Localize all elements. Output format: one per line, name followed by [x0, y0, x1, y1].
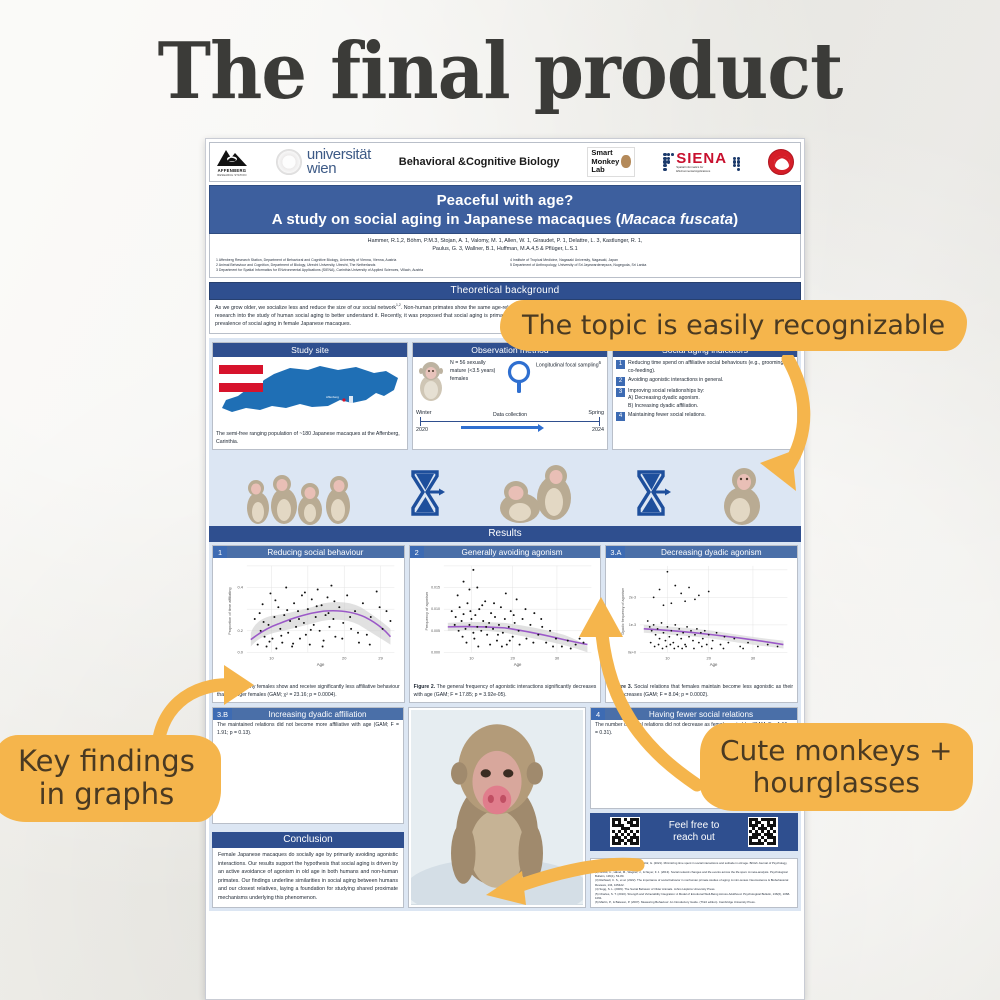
result-card-3a-number: 3.A — [606, 546, 625, 558]
result-card-3b-number: 3.B — [213, 708, 232, 720]
reference-item: (3) Rathwell, C. S., et al. (2022). The … — [595, 878, 793, 887]
svg-text:0.2: 0.2 — [237, 628, 242, 633]
reference-item: (2) Wrzus, C., Hänel, M., Wagner, J., & … — [595, 870, 793, 879]
author-line-2: Paulus, G. 3, Wallner, B.1, Huffman, M.A… — [220, 245, 790, 253]
result-card-3b: 3.B Increasing dyadic affiliation The ma… — [212, 707, 404, 824]
affiliations: 1 Affenberg Research Station, Department… — [209, 256, 801, 278]
poster-title-block: Peaceful with age? A study on social agi… — [209, 185, 801, 234]
annotation-key-findings: Key findings in graphs — [0, 735, 221, 822]
affiliation-5: 5 Department of Anthropology, University… — [510, 263, 794, 268]
reference-item: (5) Charles, S. T. (2010). Strength and … — [595, 892, 793, 901]
conclusion-heading: Conclusion — [212, 832, 404, 848]
figure-1-scatter-svg: 0.0 0.2 0.4 10 20 29 Age Proportion of t… — [215, 560, 402, 678]
timeline-year-start: 2020 — [416, 427, 428, 433]
result-card-1: 1 Reducing social behaviour 0.0 — [212, 545, 405, 703]
siena-logo: SIENA Spatial Informatics for ENvironmen… — [663, 151, 740, 172]
svg-text:Age: Age — [710, 662, 718, 667]
indicator-number: 4 — [616, 412, 625, 421]
observation-method-card: Observation method N = 56 sexually matur… — [412, 342, 608, 450]
universitat-wien-logo: universität wien — [276, 148, 371, 177]
macaque-solitary-illustration-icon — [716, 464, 770, 526]
univie-seal-icon — [276, 149, 302, 175]
indicator-item: 1 Reducing time spend on affiliative soc… — [616, 360, 794, 376]
svg-text:0.010: 0.010 — [431, 607, 440, 611]
indicator-item: 3 Improving social relationships by: A) … — [616, 388, 794, 411]
svg-text:0.005: 0.005 — [431, 629, 440, 633]
qr-code-left[interactable] — [610, 817, 640, 847]
result-card-4-title: Having fewer social relations — [605, 708, 797, 720]
result-card-2-number: 2 — [410, 546, 424, 558]
indicator-item: 2 Avoiding agonistic interactions in gen… — [616, 377, 794, 386]
svg-text:10: 10 — [269, 655, 274, 660]
indicator-text: Avoiding agonistic interactions in gener… — [628, 377, 794, 385]
data-collection-timeline: Winter Spring Data collection 2020 2024 — [416, 410, 604, 436]
svg-text:30: 30 — [554, 655, 559, 660]
qr-code-right-linkedin[interactable] — [748, 817, 778, 847]
svg-text:0e+0: 0e+0 — [628, 650, 636, 654]
svg-text:Proportion of time affiliating: Proportion of time affiliating — [227, 587, 232, 634]
result-card-1-title: Reducing social behaviour — [227, 546, 404, 558]
monkey-face-logo — [768, 149, 794, 175]
result-card-2-title: Generally avoiding agonism — [424, 546, 601, 558]
svg-text:0.4: 0.4 — [237, 585, 243, 590]
svg-text:0.000: 0.000 — [431, 650, 440, 654]
hourglass-arrow-icon-2 — [631, 468, 671, 518]
mountain-icon — [216, 147, 248, 167]
svg-text:30: 30 — [751, 655, 756, 660]
macaque-group-illustration-icon — [240, 468, 360, 526]
author-line-1: Hammer, R.1,2, Böhm, P.M.3, Stojan, A. 1… — [220, 237, 790, 245]
annotation-cute-monkeys: Cute monkeys + hourglasses — [700, 723, 973, 811]
data-collection-label: Data collection — [416, 412, 604, 418]
annotation-cute-monkeys-text: Cute monkeys + hourglasses — [700, 723, 973, 811]
reach-out-text: Feel free to reach out — [669, 820, 720, 843]
figure-3-caption: Figure 3. Social relations that females … — [606, 682, 797, 702]
result-card-3b-text: The maintained relations did not become … — [213, 720, 403, 740]
indicator-number: 3 — [616, 388, 625, 397]
results-heading: Results — [209, 526, 801, 542]
figure-1-caption: Figure 1. Elderly females show and recei… — [213, 682, 404, 702]
reference-item: (1) Luo, Y.Y., Pauly, T., Röcke, C., & H… — [595, 861, 793, 870]
reach-out-line2: reach out — [669, 832, 720, 844]
annotation-topic-text: The topic is easily recognizable — [500, 300, 967, 351]
univie-line2: wien — [307, 162, 371, 176]
indicator-text: Improving social relationships by: A) De… — [628, 388, 794, 411]
svg-text:0.0: 0.0 — [237, 649, 243, 654]
logo-bar: AFFENBERG RESEARCH STATION universität w… — [209, 142, 801, 182]
methods-row: Study site Affenberg The semi-free rangi… — [209, 338, 801, 452]
slide-title: The final product — [40, 26, 960, 117]
svg-text:10: 10 — [469, 655, 474, 660]
monkey-hourglass-strip — [209, 452, 801, 526]
figure-1-chart: 0.0 0.2 0.4 10 20 29 Age Proportion of t… — [213, 558, 404, 682]
reference-item: (6) Martin, P., & Bateson, P. (2007). Me… — [595, 900, 793, 904]
magnifier-icon — [506, 360, 532, 394]
svg-text:20: 20 — [510, 655, 515, 660]
study-site-caption: The semi-free ranging population of ~180… — [216, 431, 404, 446]
poster-title-line2: A study on social aging in Japanese maca… — [218, 211, 792, 228]
timeline-arrow-icon — [461, 426, 539, 429]
poster-title-line1: Peaceful with age? — [218, 192, 792, 209]
theoretical-background-heading: Theoretical background — [209, 282, 801, 300]
siena-dots-icon-right — [729, 153, 740, 171]
study-site-heading: Study site — [213, 343, 407, 357]
figure-2-chart: 0.000 0.005 0.010 0.015 10 20 30 Age Fre… — [410, 558, 601, 682]
indicator-item: 4 Maintaining fewer social relations. — [616, 412, 794, 421]
annotation-key-line2: in graphs — [18, 778, 195, 811]
smart-monkey-icon — [621, 155, 631, 168]
austria-flag-icon — [219, 365, 263, 392]
references-list: (1) Luo, Y.Y., Pauly, T., Röcke, C., & H… — [590, 858, 798, 908]
figure-3-scatter-svg: 0e+0 1e-3 2e-3 10 20 30 Age Dyadic frequ… — [608, 560, 795, 678]
svg-text:Dyadic frequency of agonism: Dyadic frequency of agonism — [621, 588, 625, 635]
study-site-card: Study site Affenberg The semi-free rangi… — [212, 342, 408, 450]
svg-text:Age: Age — [513, 662, 521, 667]
svg-text:Age: Age — [317, 662, 325, 667]
result-card-3b-title: Increasing dyadic affiliation — [232, 708, 403, 720]
result-card-4-number: 4 — [591, 708, 605, 720]
indicator-number: 2 — [616, 377, 625, 386]
conference-poster[interactable]: AFFENBERG RESEARCH STATION universität w… — [205, 138, 805, 1000]
annotation-cute-line1: Cute monkeys + — [720, 735, 953, 767]
result-card-1-number: 1 — [213, 546, 227, 558]
affenberg-logo: AFFENBERG RESEARCH STATION — [216, 147, 248, 177]
indicator-text: Maintaining fewer social relations. — [628, 412, 794, 420]
conclusion-section: Conclusion Female Japanese macaques do s… — [212, 832, 404, 907]
affenberg-logo-line1: AFFENBERG — [218, 168, 247, 173]
hourglass-arrow-icon — [405, 468, 445, 518]
svg-text:29: 29 — [378, 655, 382, 660]
bcb-line2: Cognitive Biology — [466, 156, 560, 168]
indicator-text: Reducing time spend on affiliative socia… — [628, 360, 794, 376]
figure-2-caption: Figure 2. The general frequency of agoni… — [410, 682, 601, 702]
svg-text:Affenberg: Affenberg — [326, 395, 339, 399]
siena-dots-icon — [663, 153, 674, 171]
macaque-photo-card — [408, 707, 586, 907]
macaque-snow-photo — [411, 710, 583, 904]
affenberg-logo-line2: RESEARCH STATION — [217, 174, 246, 177]
social-aging-indicators-card: Social aging indicators 1 Reducing time … — [612, 342, 798, 450]
reach-out-line1: Feel free to — [669, 820, 720, 832]
smart-monkey-lab-logo: Smart Monkey Lab — [587, 147, 635, 176]
bcb-line1: Behavioral & — [399, 156, 466, 168]
siena-sub2: ENvironmental Applications — [676, 170, 727, 173]
svg-text:0.015: 0.015 — [431, 586, 440, 590]
indicator-number: 1 — [616, 360, 625, 369]
annotation-key-findings-text: Key findings in graphs — [0, 735, 221, 822]
figure-2-scatter-svg: 0.000 0.005 0.010 0.015 10 20 30 Age Fre… — [412, 560, 599, 678]
macaque-grooming-illustration-icon — [490, 464, 586, 526]
svg-text:20: 20 — [342, 655, 347, 660]
sml-line3: Lab — [591, 166, 619, 174]
affiliation-3: 3 Department for Spatial Informatics for… — [216, 268, 500, 273]
behavioral-cognitive-biology-logo: Behavioral & Cognitive Biology — [399, 156, 560, 168]
svg-text:20: 20 — [707, 655, 712, 660]
result-card-3a-title: Decreasing dyadic agonism — [625, 546, 797, 558]
sampling-method-text: Longitudinal focal sampling6 — [536, 360, 601, 371]
austria-map: Affenberg — [216, 360, 404, 430]
macaque-photo-illustration-icon — [411, 710, 583, 904]
annotation-key-line1: Key findings — [18, 745, 195, 778]
timeline-year-end: 2024 — [592, 427, 604, 433]
sample-size-text: N = 56 sexually mature (<3.5 years) fema… — [450, 360, 502, 383]
macaque-illustration-icon — [416, 360, 446, 402]
svg-text:2e-3: 2e-3 — [629, 595, 636, 599]
annotation-cute-line2: hourglasses — [720, 767, 953, 799]
author-list: Hammer, R.1,2, Böhm, P.M.3, Stojan, A. 1… — [209, 234, 801, 256]
reach-out-banner[interactable]: Feel free to reach out — [590, 813, 798, 851]
result-card-3a: 3.A Decreasing dyadic agonism 0e+0 1 — [605, 545, 798, 703]
figure-3-chart: 0e+0 1e-3 2e-3 10 20 30 Age Dyadic frequ… — [606, 558, 797, 682]
siena-wordmark: SIENA — [676, 151, 727, 166]
conclusion-body: Female Japanese macaques do socially age… — [212, 848, 404, 907]
result-card-2: 2 Generally avoiding agonism 0.000 0 — [409, 545, 602, 703]
annotation-topic: The topic is easily recognizable — [500, 300, 967, 351]
svg-text:10: 10 — [666, 655, 671, 660]
svg-text:Frequency of agonism: Frequency of agonism — [424, 591, 429, 631]
svg-text:1e-3: 1e-3 — [629, 623, 636, 627]
